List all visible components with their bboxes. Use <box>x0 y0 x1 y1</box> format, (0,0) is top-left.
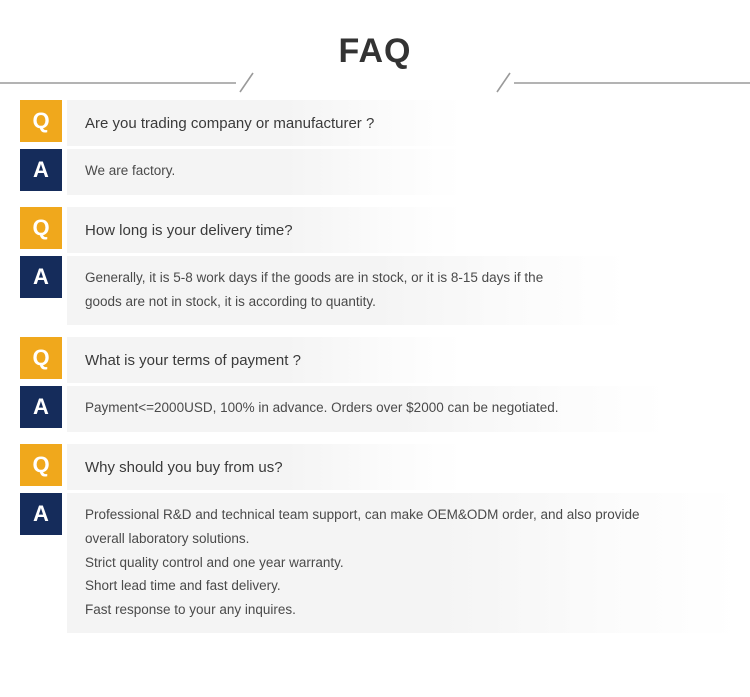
answer-line: Payment<=2000USD, 100% in advance. Order… <box>85 396 559 420</box>
answer-text: Professional R&D and technical team supp… <box>67 493 739 633</box>
faq-item: Q How long is your delivery time? A Gene… <box>20 207 750 325</box>
faq-question-row[interactable]: Q Why should you buy from us? <box>20 444 750 490</box>
page-title: FAQ <box>281 34 470 68</box>
answer-badge: A <box>20 386 62 428</box>
faq-answer-row: A Generally, it is 5-8 work days if the … <box>20 256 750 325</box>
faq-question-row[interactable]: Q How long is your delivery time? <box>20 207 750 253</box>
faq-answer-row: A We are factory. <box>20 149 750 195</box>
faq-list: Q Are you trading company or manufacture… <box>0 100 750 633</box>
faq-question-row[interactable]: Q What is your terms of payment ? <box>20 337 750 383</box>
answer-line: Professional R&D and technical team supp… <box>85 503 640 527</box>
answer-line: goods are not in stock, it is according … <box>85 290 376 314</box>
faq-item: Q What is your terms of payment ? A Paym… <box>20 337 750 432</box>
answer-text: We are factory. <box>67 149 462 195</box>
question-badge: Q <box>20 444 62 486</box>
answer-text: Generally, it is 5-8 work days if the go… <box>67 256 627 325</box>
answer-badge: A <box>20 149 62 191</box>
answer-line: Short lead time and fast delivery. <box>85 574 281 598</box>
faq-item: Q Why should you buy from us? A Professi… <box>20 444 750 633</box>
answer-line: Generally, it is 5-8 work days if the go… <box>85 266 543 290</box>
question-text: Why should you buy from us? <box>67 444 462 490</box>
answer-badge: A <box>20 493 62 535</box>
answer-line: Strict quality control and one year warr… <box>85 551 344 575</box>
header-rule-right <box>495 72 750 94</box>
answer-badge: A <box>20 256 62 298</box>
question-badge: Q <box>20 337 62 379</box>
question-text: What is your terms of payment ? <box>67 337 462 383</box>
question-text: How long is your delivery time? <box>67 207 462 253</box>
header-rule-left <box>0 72 255 94</box>
question-badge: Q <box>20 100 62 142</box>
faq-answer-row: A Payment<=2000USD, 100% in advance. Ord… <box>20 386 750 432</box>
question-text: Are you trading company or manufacturer … <box>67 100 462 146</box>
faq-header: FAQ <box>0 0 750 100</box>
question-badge: Q <box>20 207 62 249</box>
faq-question-row[interactable]: Q Are you trading company or manufacture… <box>20 100 750 146</box>
answer-line: overall laboratory solutions. <box>85 527 249 551</box>
answer-text: Payment<=2000USD, 100% in advance. Order… <box>67 386 667 432</box>
faq-answer-row: A Professional R&D and technical team su… <box>20 493 750 633</box>
answer-line: Fast response to your any inquires. <box>85 598 296 622</box>
answer-line: We are factory. <box>85 159 175 183</box>
faq-item: Q Are you trading company or manufacture… <box>20 100 750 195</box>
